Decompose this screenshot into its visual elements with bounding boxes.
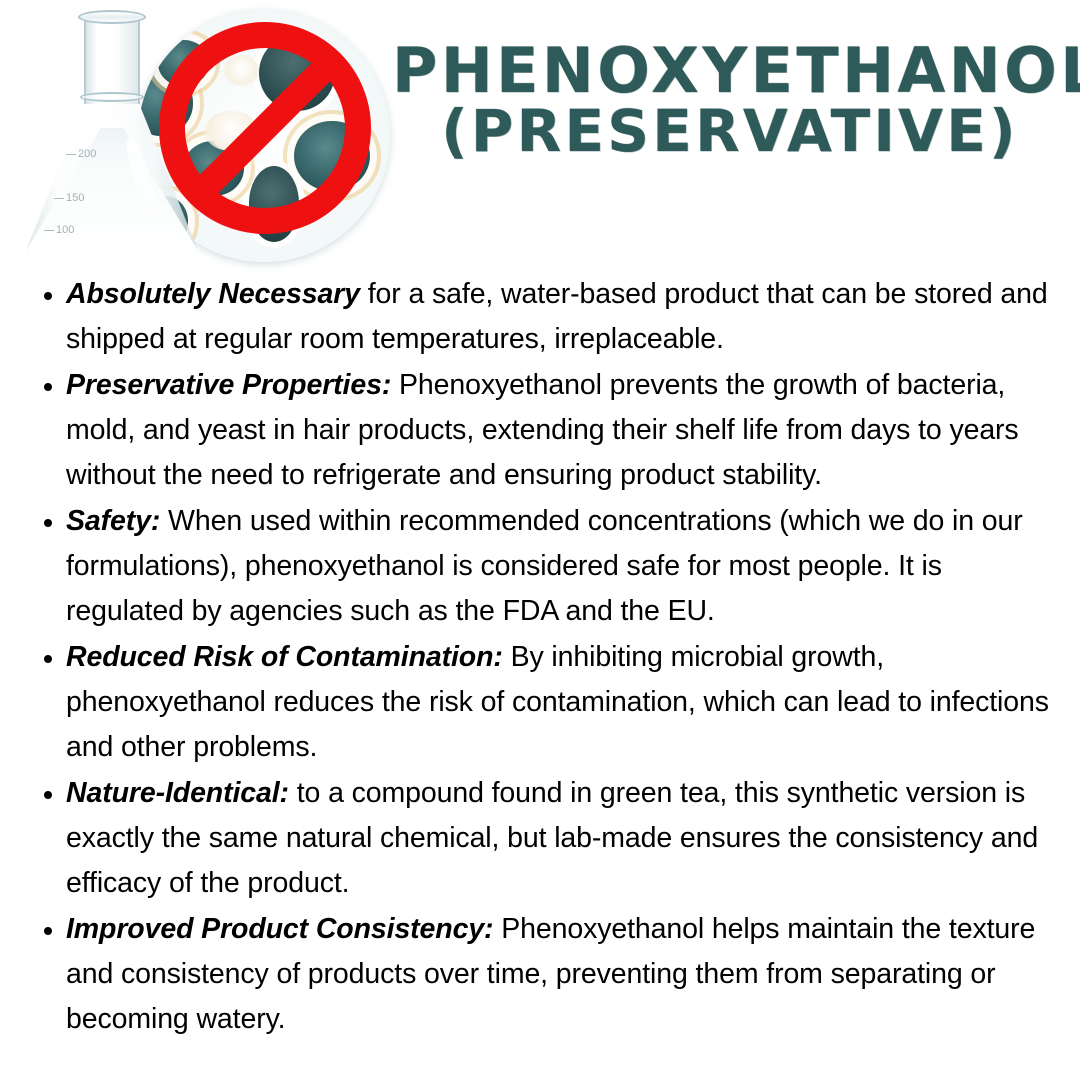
list-item-lead: Safety: [66, 505, 160, 537]
flask-meniscus [80, 92, 144, 102]
list-item: Nature-Identical: to a compound found in… [26, 771, 1060, 906]
list-item-lead: Absolutely Necessary [66, 278, 360, 310]
list-item: Absolutely Necessary for a safe, water-b… [26, 272, 1060, 362]
erlenmeyer-flask-image: 200 150 100 [22, 8, 202, 266]
list-item: Preservative Properties: Phenoxyethanol … [26, 363, 1060, 498]
flask-graduation-mark: 200 [78, 148, 96, 160]
title-line-primary: PHENOXYETHANOL [392, 42, 1068, 99]
flask-neck [84, 14, 140, 104]
list-item-body: When used within recommended concentrati… [66, 505, 1023, 627]
list-item-lead: Preservative Properties: [66, 369, 391, 401]
flask-graduation-mark: 100 [56, 224, 74, 236]
benefits-list: Absolutely Necessary for a safe, water-b… [26, 272, 1060, 1042]
list-item-lead: Nature-Identical: [66, 777, 289, 809]
header: 200 150 100 PHENOXYETHANOL (PRESERVATIVE… [0, 0, 1080, 272]
list-item-lead: Reduced Risk of Contamination: [66, 641, 503, 673]
title-line-secondary: (PRESERVATIVE) [392, 105, 1068, 158]
list-item: Improved Product Consistency: Phenoxyeth… [26, 907, 1060, 1042]
list-item-lead: Improved Product Consistency: [66, 913, 493, 945]
benefits-content: Absolutely Necessary for a safe, water-b… [0, 272, 1080, 1043]
list-item: Safety: When used within recommended con… [26, 499, 1060, 634]
header-artwork: 200 150 100 [0, 0, 400, 272]
flask-lip [78, 10, 146, 24]
list-item: Reduced Risk of Contamination: By inhibi… [26, 635, 1060, 770]
flask-graduation-mark: 150 [66, 192, 84, 204]
page-title: PHENOXYETHANOL (PRESERVATIVE) [392, 42, 1068, 158]
